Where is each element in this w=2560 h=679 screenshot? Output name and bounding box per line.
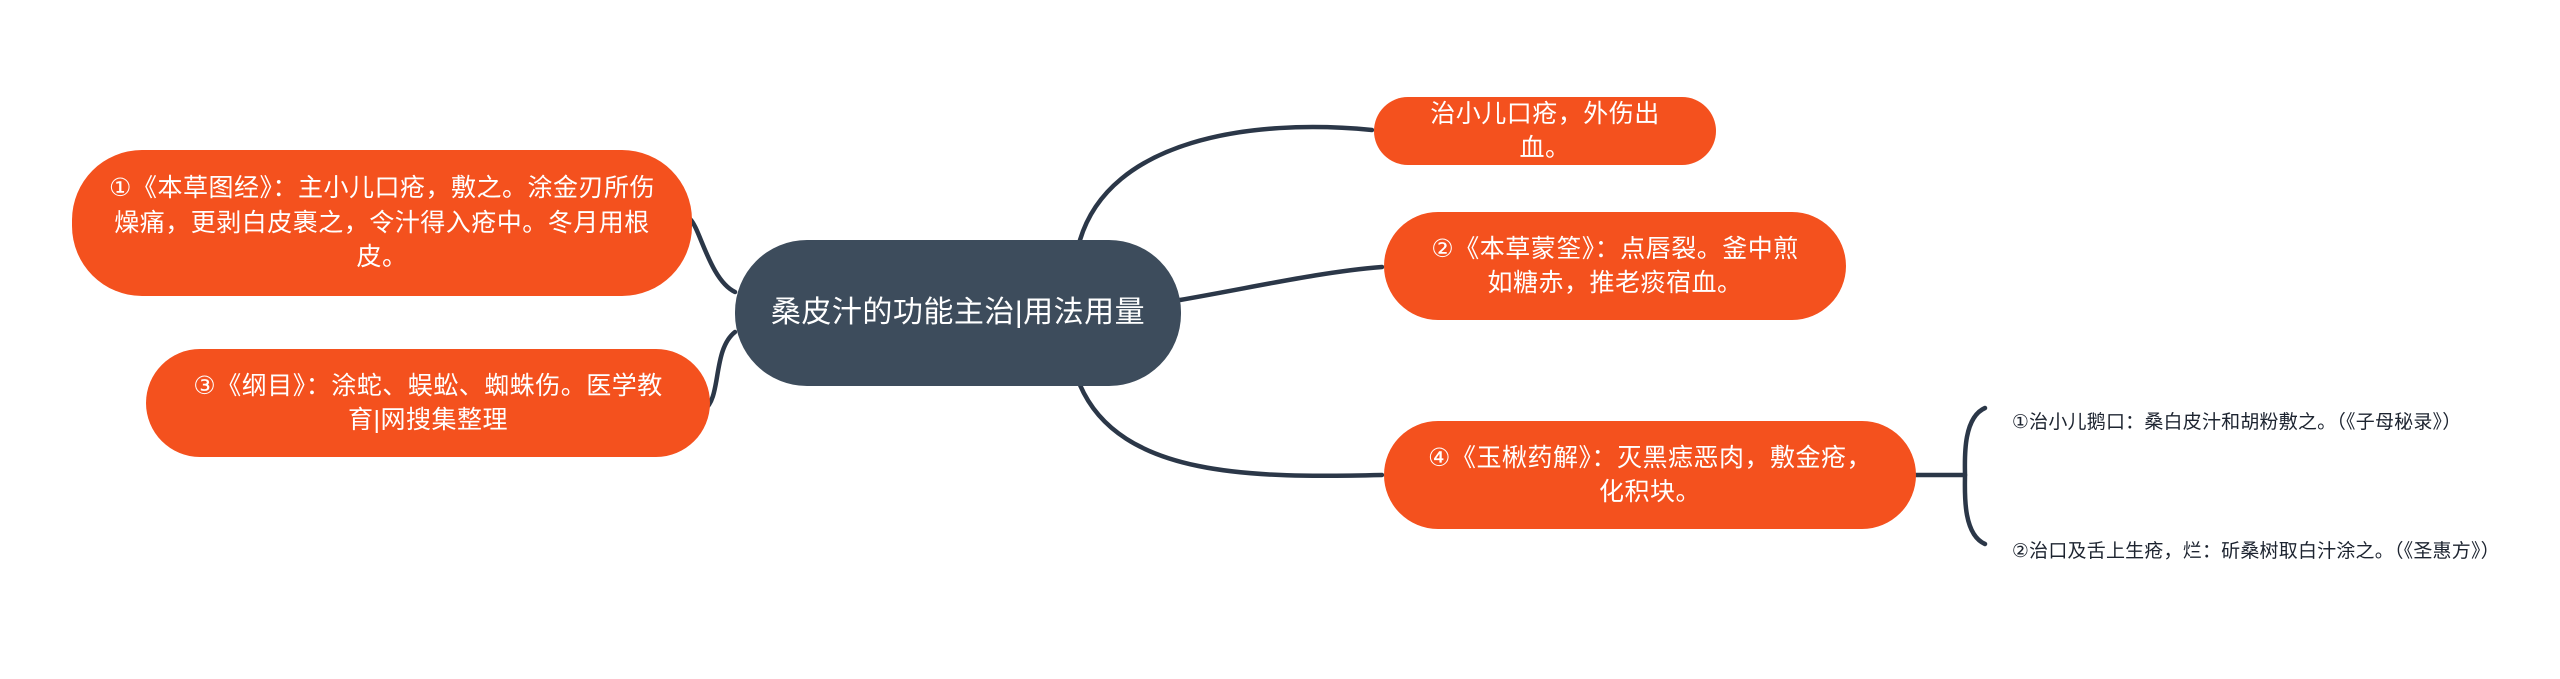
branch-node-label: 治小儿口疮，外伤出血。 xyxy=(1410,97,1680,166)
root-node[interactable]: 桑皮汁的功能主治|用法用量 xyxy=(735,240,1181,386)
branch-node-ben-cao-meng-quan[interactable]: ②《本草蒙筌》：点唇裂。釜中煎如糖赤，推老痰宿血。 xyxy=(1384,212,1846,320)
branch-node-yu-qiu-yao-jie[interactable]: ④《玉楸药解》：灭黑痣恶肉，敷金疮，化积块。 xyxy=(1384,421,1916,529)
connector-root-to-right-1 xyxy=(1080,127,1372,240)
branch-node-gang-mu[interactable]: ③《纲目》：涂蛇、蜈蚣、蜘蛛伤。医学教育|网搜集整理 xyxy=(146,349,710,457)
connector-root-to-left-1 xyxy=(690,219,735,292)
connector-root-to-right-3 xyxy=(1080,385,1382,476)
leaf-node-label: ②治口及舌上生疮，烂：斫桑树取白汁涂之。（《圣惠方》） xyxy=(2012,541,2500,562)
connector-bracket xyxy=(1965,408,1985,544)
branch-node-label: ④《玉楸药解》：灭黑痣恶肉，敷金疮，化积块。 xyxy=(1420,441,1880,510)
leaf-node-fang-2[interactable]: ②治口及舌上生疮，烂：斫桑树取白汁涂之。（《圣惠方》） xyxy=(1990,509,2535,595)
root-node-label: 桑皮汁的功能主治|用法用量 xyxy=(771,292,1145,333)
branch-node-label: ③《纲目》：涂蛇、蜈蚣、蜘蛛伤。医学教育|网搜集整理 xyxy=(182,369,674,438)
mindmap-canvas: 桑皮汁的功能主治|用法用量 ①《本草图经》：主小儿口疮，敷之。涂金刃所伤燥痛，更… xyxy=(0,0,2560,679)
leaf-node-fang-1[interactable]: ①治小儿鹅口：桑白皮汁和胡粉敷之。（《子母秘录》） xyxy=(1990,380,2520,466)
branch-node-ben-cao-tu-jing[interactable]: ①《本草图经》：主小儿口疮，敷之。涂金刃所伤燥痛，更剥白皮裹之，令汁得入疮中。冬… xyxy=(72,150,692,296)
branch-node-label: ②《本草蒙筌》：点唇裂。釜中煎如糖赤，推老痰宿血。 xyxy=(1420,232,1810,301)
leaf-node-label: ①治小儿鹅口：桑白皮汁和胡粉敷之。（《子母秘录》） xyxy=(2012,412,2462,433)
branch-node-zhu-zhi[interactable]: 治小儿口疮，外伤出血。 xyxy=(1374,97,1716,165)
connector-root-to-right-2 xyxy=(1180,267,1382,300)
branch-node-label: ①《本草图经》：主小儿口疮，敷之。涂金刃所伤燥痛，更剥白皮裹之，令汁得入疮中。冬… xyxy=(108,171,656,275)
